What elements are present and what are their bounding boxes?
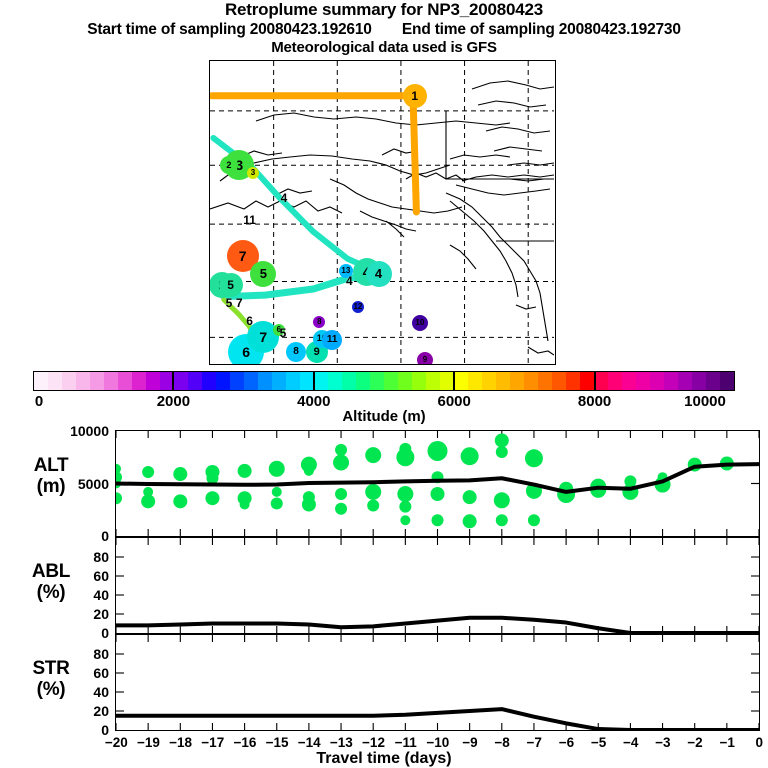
colorbar-segment-33: [496, 372, 510, 390]
xtick-label--17: −17: [201, 735, 224, 750]
retroplume-map[interactable]: 13237555441312676891011810941157654: [209, 60, 556, 365]
coastline-9: [450, 201, 518, 297]
colorbar-segment-16: [258, 372, 272, 390]
altitude-bubble-31: [397, 486, 413, 502]
coastline-3: [330, 179, 462, 213]
altitude-bubble-26: [365, 447, 381, 463]
map-text-marker-3: 7: [236, 297, 243, 309]
colorbar-segment-45: [664, 372, 678, 390]
xtick-label-0: 0: [756, 735, 764, 750]
altitude-bubble-43: [494, 492, 510, 508]
page-title: Retroplume summary for NP3_20080423: [0, 0, 768, 20]
coastline-19: [450, 245, 476, 269]
colorbar-divider-2: [453, 371, 455, 391]
colorbar-segment-8: [146, 372, 160, 390]
coastline-12: [486, 127, 550, 133]
colorbar-segment-15: [244, 372, 258, 390]
colorbar-divider-1: [313, 371, 315, 391]
colorbar-segment-47: [692, 372, 706, 390]
abl-row-label: ABL (%): [8, 561, 94, 603]
map-cluster-marker-55b[interactable]: 5: [219, 273, 243, 297]
map-cluster-marker-4b[interactable]: 4: [366, 261, 392, 287]
colorbar-segment-25: [384, 372, 398, 390]
xtick-label--3: −3: [655, 735, 670, 750]
altitude-bubble-15: [269, 461, 285, 477]
colorbar-segment-40: [594, 372, 608, 390]
colorbar-axis-label: Altitude (m): [0, 408, 768, 425]
abl-ytick-20: 20: [93, 606, 109, 622]
colorbar-segment-23: [356, 372, 370, 390]
colorbar-segment-27: [412, 372, 426, 390]
xtick-label--19: −19: [137, 735, 160, 750]
altitude-bubble-4: [142, 466, 154, 478]
coastline-6: [456, 185, 550, 195]
altitude-plot-canvas: [116, 431, 759, 536]
altitude-colorbar: [33, 371, 735, 391]
alt-ytick-5000: 5000: [78, 476, 109, 492]
altitude-bubble-39: [463, 490, 477, 504]
colorbar-segment-20: [314, 372, 328, 390]
xtick-label--6: −6: [559, 735, 574, 750]
colorbar-segment-0: [34, 372, 48, 390]
x-axis-label: Travel time (days): [0, 750, 768, 768]
str-plot-canvas: [116, 635, 759, 730]
xtick-label--4: −4: [623, 735, 638, 750]
altitude-bubble-28: [367, 500, 379, 512]
colorbar-segment-1: [48, 372, 62, 390]
coastline-2: [256, 113, 510, 125]
coastline-10: [472, 81, 554, 89]
abl-ytick-40: 40: [93, 587, 109, 603]
str-label-line1: STR: [8, 658, 94, 679]
abl-ytick-80: 80: [93, 549, 109, 565]
coastline-8: [446, 193, 548, 341]
altitude-bubble-22: [335, 444, 347, 456]
coastline-7: [462, 175, 554, 181]
alt-ytick-0: 0: [101, 528, 109, 544]
title-block: Retroplume summary for NP3_20080423 Star…: [0, 0, 768, 57]
map-cluster-marker-10p[interactable]: 10: [412, 315, 428, 331]
map-cluster-marker-5[interactable]: 5: [250, 261, 276, 287]
altitude-panel[interactable]: [115, 430, 760, 537]
alt-label-line1: ALT: [8, 455, 94, 476]
colorbar-segment-30: [454, 372, 468, 390]
coastline-0: [210, 201, 342, 213]
altitude-bubble-45: [525, 449, 543, 467]
colorbar-segment-42: [622, 372, 636, 390]
abl-label-line2: (%): [8, 582, 94, 603]
altitude-bubble-40: [463, 514, 477, 528]
map-cluster-marker-8[interactable]: 8: [286, 342, 306, 362]
str-ytick-40: 40: [93, 684, 109, 700]
alt-ytick-10000: 10000: [70, 423, 109, 439]
altitude-bubble-37: [432, 514, 444, 526]
altitude-bubble-6: [141, 494, 155, 508]
colorbar-segment-49: [720, 372, 734, 390]
abl-ytick-60: 60: [93, 568, 109, 584]
sampling-time-line: Start time of sampling 20080423.192610 E…: [0, 20, 768, 39]
colorbar-segment-2: [62, 372, 76, 390]
colorbar-segment-35: [524, 372, 538, 390]
abl-label-line1: ABL: [8, 561, 94, 582]
altitude-bubble-14: [240, 500, 250, 510]
colorbar-segment-44: [650, 372, 664, 390]
altitude-bubble-44: [496, 514, 508, 526]
altitude-bubble-12: [238, 464, 252, 478]
altitude-bubble-32: [399, 501, 411, 513]
xtick-label--18: −18: [169, 735, 192, 750]
colorbar-segment-24: [370, 372, 384, 390]
xtick-label--15: −15: [266, 735, 289, 750]
xtick-label--9: −9: [462, 735, 477, 750]
xtick-label--1: −1: [719, 735, 734, 750]
xtick-label--16: −16: [233, 735, 256, 750]
map-text-marker-0: 4: [281, 192, 288, 204]
altitude-bubble-30: [396, 448, 414, 466]
altitude-bubble-36: [431, 487, 445, 501]
colorbar-segment-34: [510, 372, 524, 390]
altitude-bubble-38: [461, 447, 479, 465]
altitude-bubble-27: [365, 484, 381, 500]
abl-panel[interactable]: [115, 537, 760, 634]
colorbar-segment-11: [188, 372, 202, 390]
colorbar-segment-6: [118, 372, 132, 390]
abl-plot-canvas: [116, 538, 759, 633]
altitude-bubble-17: [271, 497, 283, 509]
xtick-label--2: −2: [687, 735, 702, 750]
colorbar-segment-31: [468, 372, 482, 390]
altitude-bubble-47: [528, 514, 540, 526]
xtick-label--11: −11: [395, 735, 417, 750]
xtick-label--20: −20: [105, 735, 128, 750]
coastline-17: [528, 347, 554, 355]
colorbar-segment-29: [440, 372, 454, 390]
colorbar-segment-37: [552, 372, 566, 390]
colorbar-segment-46: [678, 372, 692, 390]
xtick-label--5: −5: [591, 735, 606, 750]
colorbar-segment-14: [230, 372, 244, 390]
xtick-label--7: −7: [527, 735, 542, 750]
altitude-bubble-49: [557, 485, 575, 503]
altitude-bubble-3: [116, 492, 122, 504]
xtick-label--13: −13: [330, 735, 353, 750]
str-label-line2: (%): [8, 679, 94, 700]
altitude-bubble-16: [272, 487, 282, 497]
altitude-bubble-21: [302, 498, 316, 512]
coastline-16: [450, 155, 510, 159]
map-text-marker-2: 5: [226, 297, 233, 309]
map-cluster-marker-12[interactable]: 12: [352, 301, 364, 313]
colorbar-segment-43: [636, 372, 650, 390]
altitude-bubble-33: [400, 515, 410, 525]
colorbar-segment-22: [342, 372, 356, 390]
coastline-13: [494, 147, 542, 151]
colorbar-segment-38: [566, 372, 580, 390]
xtick-label--14: −14: [298, 735, 321, 750]
colorbar-segment-13: [216, 372, 230, 390]
altitude-bubble-10: [206, 472, 218, 484]
map-cluster-marker-2[interactable]: 2: [220, 156, 238, 174]
coastline-18: [516, 305, 536, 309]
colorbar-divider-0: [172, 371, 174, 391]
abl-ytick-0: 0: [101, 625, 109, 641]
altitude-bubble-7: [173, 467, 187, 481]
map-cluster-marker-8p[interactable]: 8: [313, 316, 325, 328]
colorbar-segment-10: [174, 372, 188, 390]
colorbar-segment-26: [398, 372, 412, 390]
colorbar-segment-18: [286, 372, 300, 390]
colorbar-divider-3: [594, 371, 596, 391]
str-ytick-60: 60: [93, 665, 109, 681]
colorbar-segment-21: [328, 372, 342, 390]
map-text-marker-4: 6: [246, 315, 253, 327]
coastline-5: [360, 211, 416, 231]
colorbar-segment-7: [132, 372, 146, 390]
colorbar-segment-48: [706, 372, 720, 390]
start-time-label: Start time of sampling 20080423.192610: [87, 21, 371, 38]
colorbar-segment-4: [90, 372, 104, 390]
str-ytick-80: 80: [93, 646, 109, 662]
colorbar-segment-17: [272, 372, 286, 390]
map-cluster-marker-11[interactable]: 11: [322, 330, 342, 350]
colorbar-segment-39: [580, 372, 594, 390]
altitude-bubble-19: [304, 466, 314, 476]
met-data-label: Meteorological data used is GFS: [0, 39, 768, 57]
map-cluster-marker-1[interactable]: 1: [403, 84, 427, 108]
colorbar-segment-12: [202, 372, 216, 390]
altitude-bubble-25: [335, 503, 347, 515]
colorbar-segment-36: [538, 372, 552, 390]
colorbar-segment-3: [76, 372, 90, 390]
xtick-label--12: −12: [362, 735, 385, 750]
altitude-bubble-34: [428, 441, 448, 461]
colorbar-segment-5: [104, 372, 118, 390]
colorbar-segment-28: [426, 372, 440, 390]
map-text-marker-5: 5: [280, 327, 287, 339]
str-panel[interactable]: [115, 634, 760, 731]
colorbar-segment-41: [608, 372, 622, 390]
map-text-marker-1: 11: [243, 214, 256, 226]
map-cluster-marker-3b[interactable]: 3: [247, 167, 259, 179]
str-row-label: STR (%): [8, 658, 94, 700]
colorbar-segment-32: [482, 372, 496, 390]
coastline-11: [478, 101, 546, 107]
end-time-label: End time of sampling 20080423.192730: [402, 21, 681, 38]
altitude-bubble-23: [333, 455, 349, 471]
altitude-bubble-11: [205, 491, 219, 505]
map-canvas: [210, 61, 554, 363]
map-cluster-marker-9p[interactable]: 9: [417, 352, 433, 365]
altitude-bubble-24: [335, 488, 347, 500]
altitude-bubble-42: [496, 446, 508, 458]
map-text-marker-6: 4: [346, 275, 353, 287]
altitude-bubble-8: [173, 494, 187, 508]
xtick-label--10: −10: [426, 735, 449, 750]
xtick-label--8: −8: [494, 735, 509, 750]
altitude-bubble-41: [495, 433, 509, 447]
str-ytick-20: 20: [93, 703, 109, 719]
